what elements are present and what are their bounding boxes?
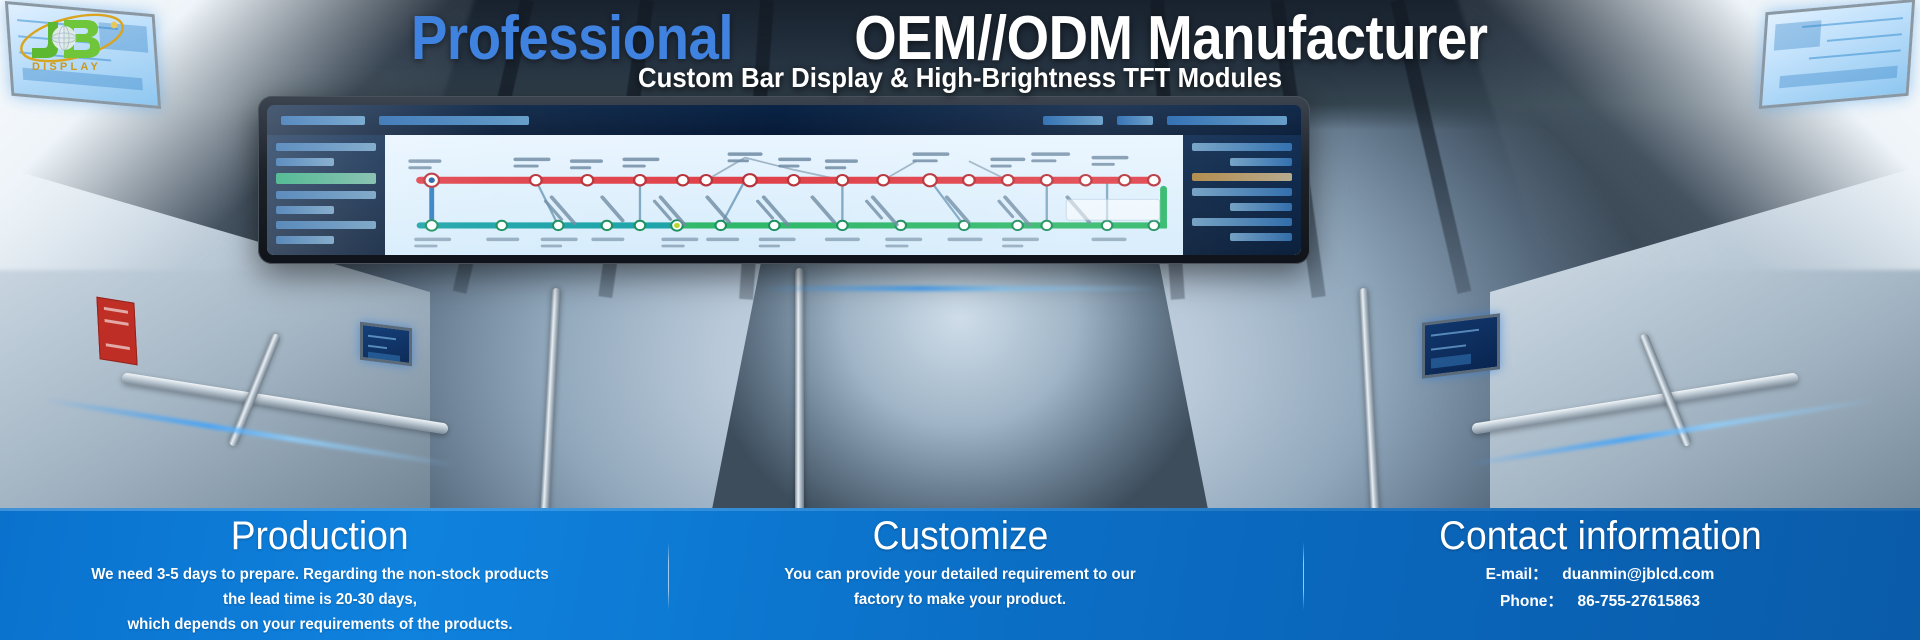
info-row	[1230, 203, 1292, 211]
logo-wordmark: DISPLAY	[32, 61, 101, 73]
side-info-screen-right	[1759, 0, 1915, 109]
production-line-1: We need 3-5 days to prepare. Regarding t…	[10, 562, 631, 587]
lcd-right-info-panel	[1183, 135, 1301, 255]
info-row	[1192, 143, 1292, 151]
info-row	[276, 158, 334, 166]
customize-line-1: You can provide your detailed requiremen…	[650, 562, 1271, 587]
column-divider-1	[668, 542, 669, 610]
contact-email-label: E-mail：	[1486, 566, 1548, 583]
bottom-info-bar: Production We need 3-5 days to prepare. …	[0, 508, 1920, 640]
info-row	[276, 191, 376, 199]
status-chip	[1167, 116, 1287, 125]
orbit-bead	[111, 22, 118, 29]
contact-details: E-mail： duanmin@jblcd.com Phone： 86-755-…	[1280, 562, 1920, 615]
customize-line-2: factory to make your product.	[650, 587, 1271, 612]
column-title-contact-information: Contact information	[1439, 515, 1762, 558]
lcd-left-info-panel	[267, 135, 385, 255]
status-chip	[281, 116, 365, 125]
ceiling-led-strip-top	[760, 286, 1160, 291]
info-row-warning	[1192, 173, 1292, 181]
lcd-screen	[267, 105, 1301, 255]
info-column-contact: Contact information E-mail： duanmin@jblc…	[1280, 508, 1920, 616]
safety-notice-card	[96, 297, 137, 366]
info-row	[1230, 233, 1292, 241]
contact-phone-value[interactable]: 86-755-27615863	[1578, 593, 1700, 610]
subway-route-map	[385, 135, 1183, 255]
customize-description: You can provide your detailed requiremen…	[640, 562, 1280, 612]
info-column-customize: Customize You can provide your detailed …	[640, 508, 1280, 612]
cabin-small-screen-right	[1422, 313, 1500, 379]
info-row	[1192, 218, 1292, 226]
lcd-status-bar	[267, 105, 1301, 135]
bar-lcd-display[interactable]	[258, 96, 1310, 264]
column-title-customize: Customize	[872, 515, 1048, 558]
contact-email-value[interactable]: duanmin@jblcd.com	[1562, 566, 1714, 583]
column-divider-2	[1303, 542, 1304, 610]
production-line-2: the lead time is 20-30 days,	[10, 587, 631, 612]
info-row	[1230, 158, 1292, 166]
info-row	[276, 143, 376, 151]
contact-phone-label: Phone：	[1500, 593, 1563, 610]
production-description: We need 3-5 days to prepare. Regarding t…	[0, 562, 640, 637]
contact-phone-row: Phone： 86-755-27615863	[1280, 589, 1920, 616]
info-row	[276, 206, 334, 214]
info-row	[276, 221, 376, 229]
status-chip	[1043, 116, 1103, 125]
cabin-small-screen-left	[360, 322, 412, 366]
company-logo[interactable]: DISPLAY	[12, 8, 140, 74]
info-column-production: Production We need 3-5 days to prepare. …	[0, 508, 640, 638]
contact-email-row: E-mail： duanmin@jblcd.com	[1280, 562, 1920, 589]
column-title-production: Production	[231, 515, 409, 558]
production-line-3: which depends on your requirements of th…	[10, 612, 631, 637]
info-row	[1192, 188, 1292, 196]
info-row	[276, 236, 334, 244]
lcd-content-area	[267, 135, 1301, 255]
vertical-pole-center	[795, 268, 804, 518]
promotional-banner: ProfessionalOEM//ODM Manufacturer Custom…	[0, 0, 1920, 640]
status-chip	[379, 116, 529, 125]
status-chip	[1117, 116, 1153, 125]
info-row-highlight	[276, 173, 376, 184]
